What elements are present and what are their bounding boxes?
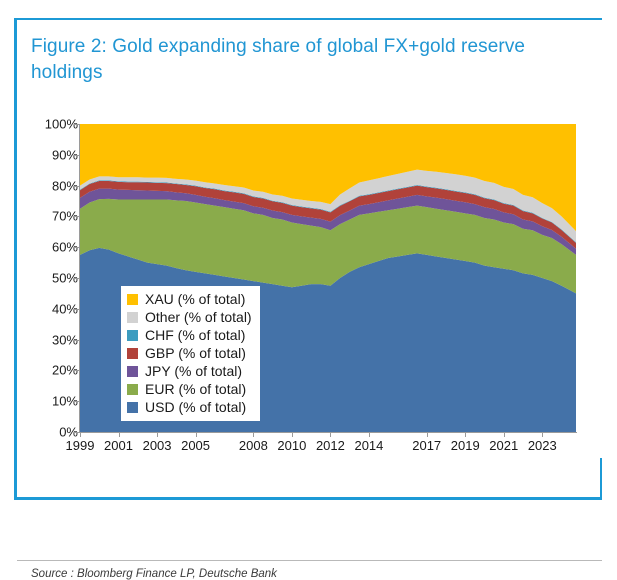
x-tick-mark: [253, 432, 254, 437]
y-tick-mark: [74, 432, 79, 433]
x-tick-mark: [80, 432, 81, 437]
x-tick-label: 2014: [354, 438, 383, 453]
y-tick-mark: [74, 401, 79, 402]
x-tick-mark: [504, 432, 505, 437]
legend-swatch-icon: [127, 330, 138, 341]
x-tick-mark: [427, 432, 428, 437]
y-tick-label: 90%: [22, 147, 78, 162]
legend-item[interactable]: Other (% of total): [127, 308, 252, 326]
y-tick-label: 20%: [22, 363, 78, 378]
x-tick-label: 2017: [412, 438, 441, 453]
y-axis-line: [79, 124, 80, 433]
x-tick-mark: [369, 432, 370, 437]
y-tick-mark: [74, 370, 79, 371]
x-tick-mark: [119, 432, 120, 437]
y-tick-label: 60%: [22, 240, 78, 255]
y-tick-mark: [74, 278, 79, 279]
legend-label: EUR (% of total): [145, 381, 246, 397]
y-tick-mark: [74, 216, 79, 217]
x-tick-label: 1999: [66, 438, 95, 453]
legend-swatch-icon: [127, 294, 138, 305]
legend-label: CHF (% of total): [145, 327, 245, 343]
legend-label: USD (% of total): [145, 399, 246, 415]
legend-item[interactable]: CHF (% of total): [127, 326, 252, 344]
x-tick-label: 2001: [104, 438, 133, 453]
source-divider: [17, 560, 602, 561]
x-tick-label: 2021: [489, 438, 518, 453]
y-tick-label: 80%: [22, 178, 78, 193]
legend-swatch-icon: [127, 402, 138, 413]
x-tick-label: 2012: [316, 438, 345, 453]
x-tick-mark: [542, 432, 543, 437]
x-axis-line: [79, 432, 577, 433]
x-tick-label: 2023: [528, 438, 557, 453]
y-tick-label: 100%: [22, 117, 78, 132]
legend-label: JPY (% of total): [145, 363, 242, 379]
y-tick-label: 10%: [22, 394, 78, 409]
x-tick-mark: [157, 432, 158, 437]
legend-label: GBP (% of total): [145, 345, 246, 361]
x-tick-label: 2019: [451, 438, 480, 453]
card-bottom-rule: [14, 497, 602, 500]
x-tick-label: 2003: [143, 438, 172, 453]
y-tick-label: 30%: [22, 332, 78, 347]
y-tick-mark: [74, 186, 79, 187]
y-tick-mark: [74, 155, 79, 156]
stacked-area-chart: 100%90%80%70%60%50%40%30%20%10%0% 199920…: [17, 108, 602, 463]
legend-item[interactable]: JPY (% of total): [127, 362, 252, 380]
legend-swatch-icon: [127, 312, 138, 323]
legend-label: Other (% of total): [145, 309, 252, 325]
legend-swatch-icon: [127, 384, 138, 395]
x-tick-label: 2008: [239, 438, 268, 453]
x-tick-mark: [196, 432, 197, 437]
x-tick-mark: [330, 432, 331, 437]
y-tick-mark: [74, 340, 79, 341]
legend-item[interactable]: EUR (% of total): [127, 380, 252, 398]
y-tick-mark: [74, 124, 79, 125]
x-tick-mark: [465, 432, 466, 437]
figure-card: Figure 2: Gold expanding share of global…: [14, 18, 602, 498]
legend-label: XAU (% of total): [145, 291, 245, 307]
x-tick-label: 2010: [277, 438, 306, 453]
y-tick-mark: [74, 247, 79, 248]
legend-swatch-icon: [127, 366, 138, 377]
x-tick-label: 2005: [181, 438, 210, 453]
legend-item[interactable]: GBP (% of total): [127, 344, 252, 362]
chart-legend: XAU (% of total)Other (% of total)CHF (%…: [121, 286, 260, 421]
y-tick-label: 40%: [22, 301, 78, 316]
source-note: Source : Bloomberg Finance LP, Deutsche …: [31, 568, 277, 580]
legend-item[interactable]: USD (% of total): [127, 398, 252, 416]
figure-title: Figure 2: Gold expanding share of global…: [31, 34, 591, 86]
y-tick-label: 70%: [22, 209, 78, 224]
y-tick-label: 50%: [22, 271, 78, 286]
legend-item[interactable]: XAU (% of total): [127, 290, 252, 308]
y-tick-mark: [74, 309, 79, 310]
legend-swatch-icon: [127, 348, 138, 359]
card-right-rule: [600, 458, 602, 500]
x-tick-mark: [292, 432, 293, 437]
